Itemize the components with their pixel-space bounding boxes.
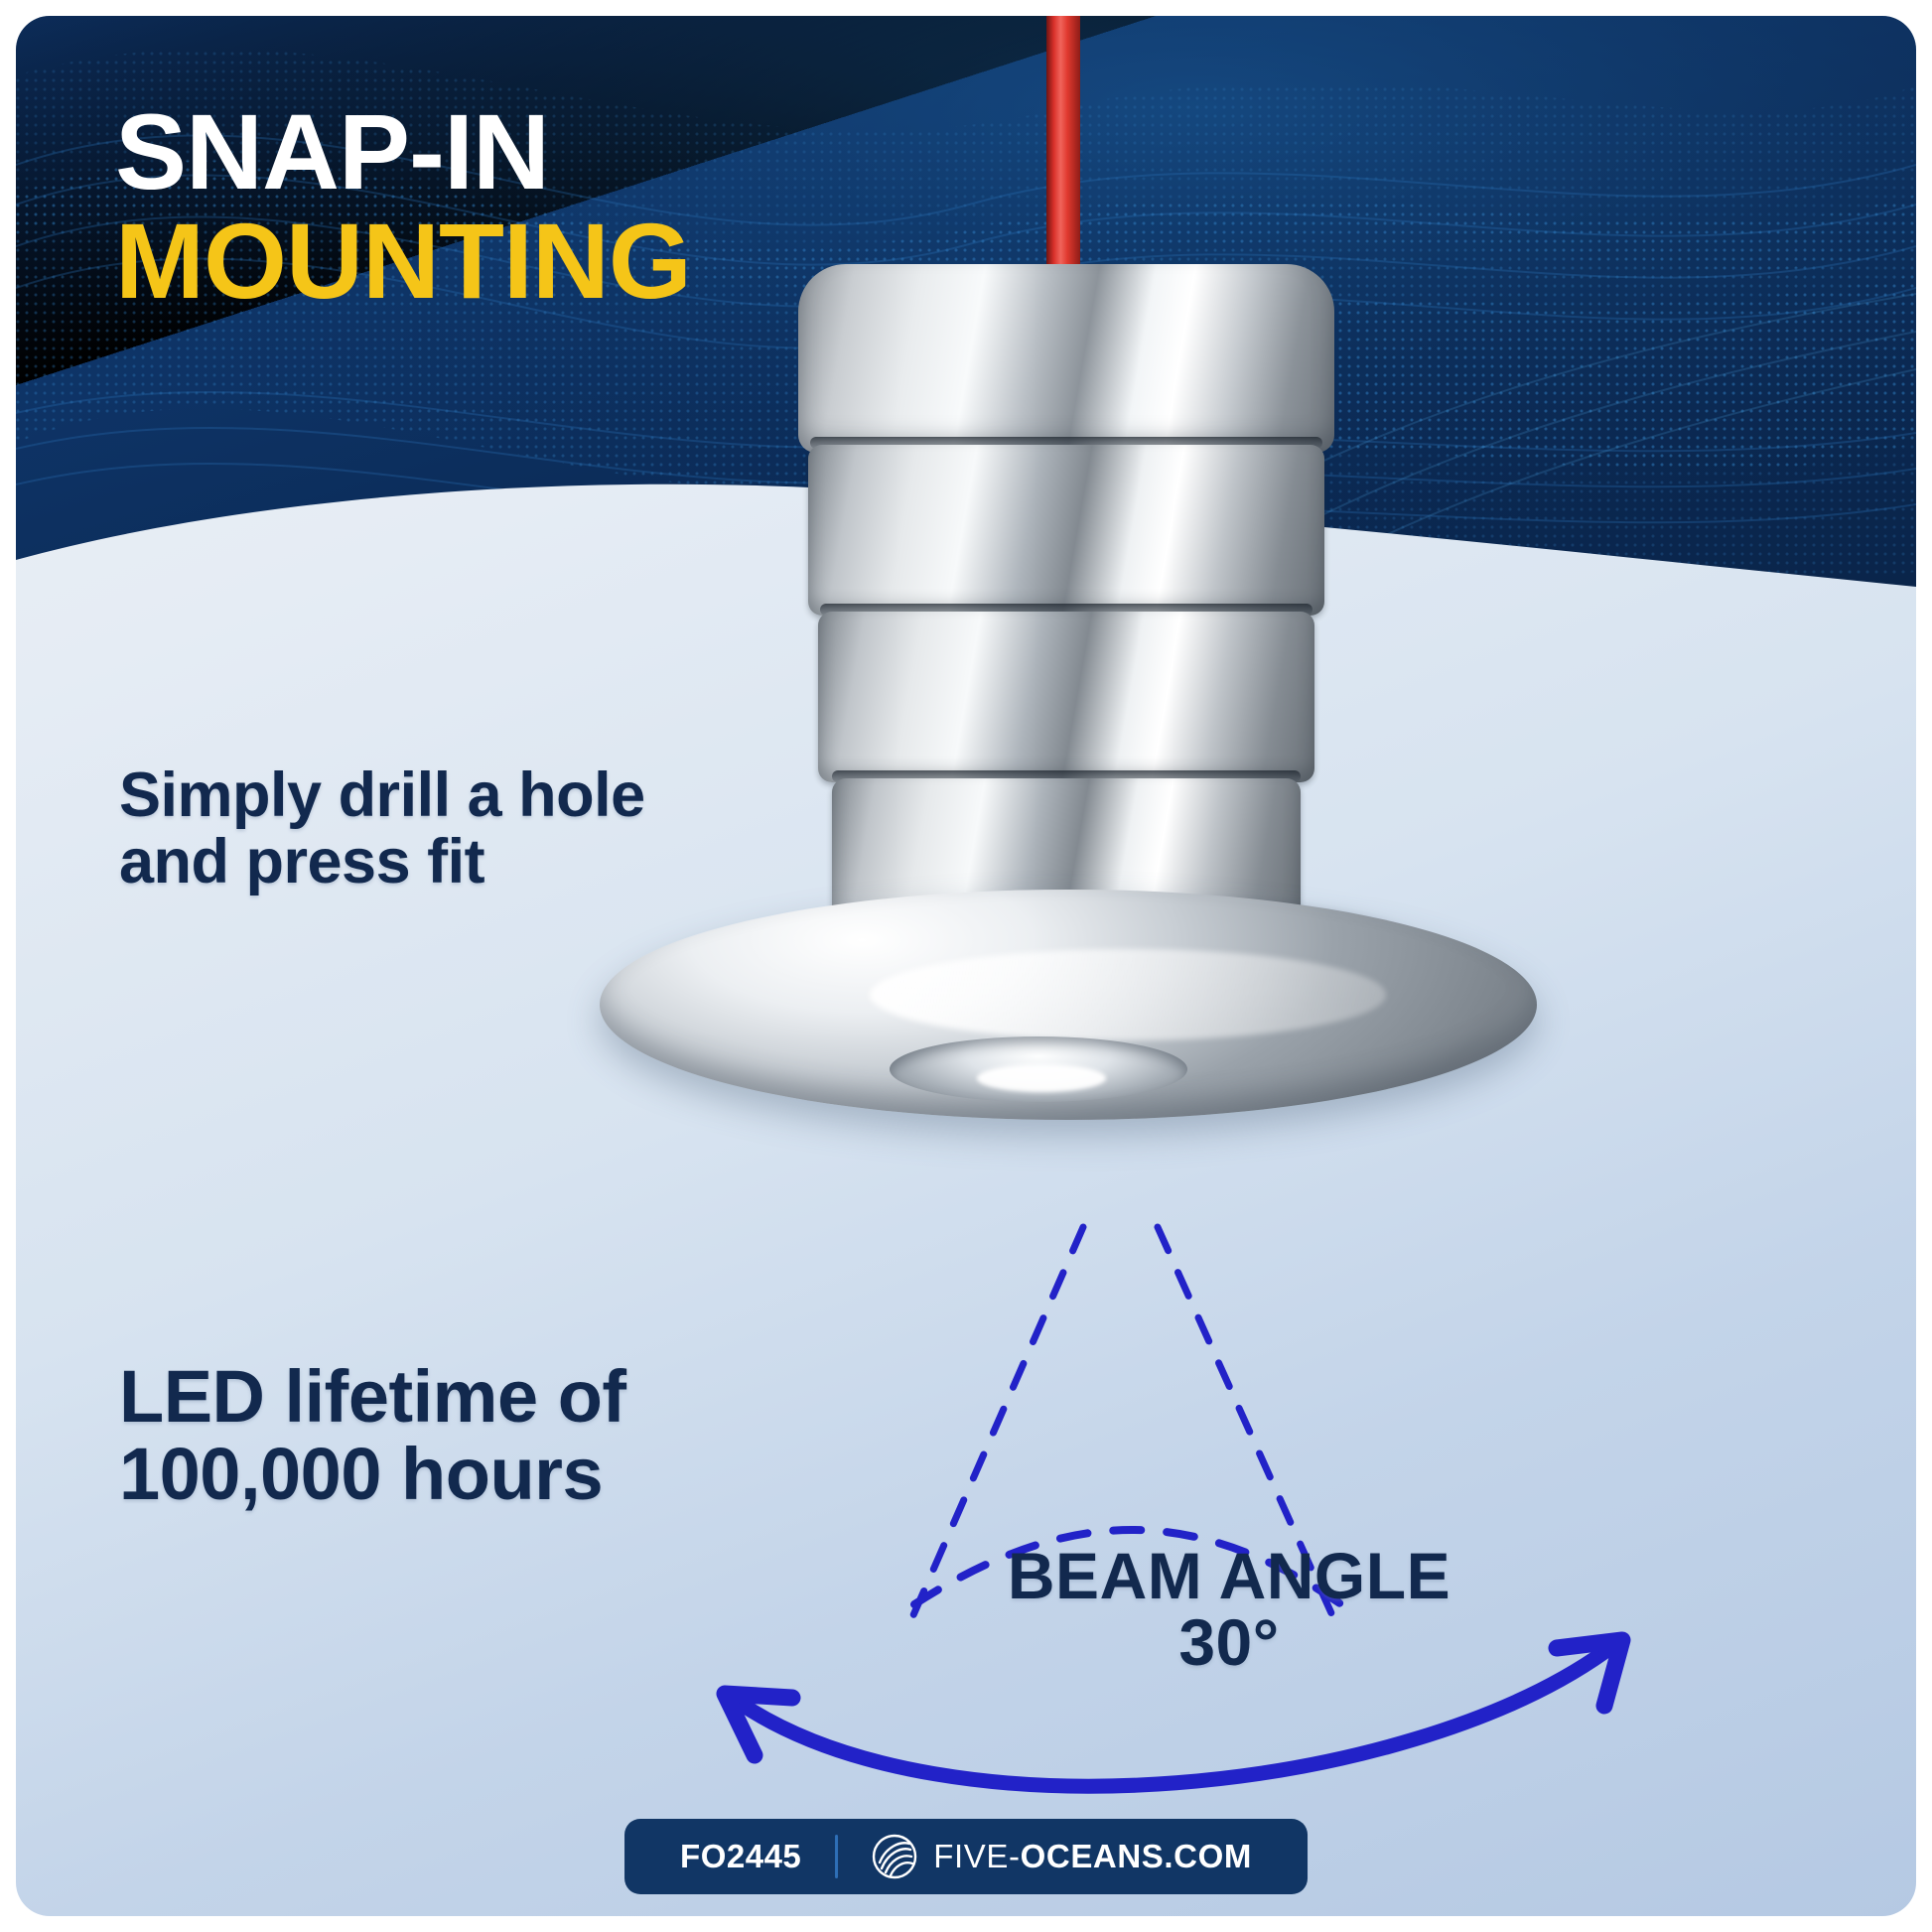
wave-shell-logo-icon bbox=[872, 1834, 917, 1879]
beam-angle-value: 30° bbox=[971, 1609, 1487, 1676]
feature-2-line-2: 100,000 hours bbox=[119, 1436, 626, 1513]
headline-line-2: MOUNTING bbox=[115, 207, 691, 316]
headline-line-1: SNAP-IN bbox=[115, 97, 691, 207]
brand-lockup: FIVE-OCEANS.COM bbox=[872, 1834, 1252, 1879]
page-title: SNAP-IN MOUNTING bbox=[115, 97, 691, 316]
beam-angle-title: BEAM ANGLE bbox=[971, 1543, 1487, 1609]
feature-1-line-1: Simply drill a hole bbox=[119, 762, 645, 829]
brand-prefix: FIVE- bbox=[933, 1838, 1020, 1874]
footer-bar: FO2445 FIVE-OCEANS.COM bbox=[624, 1819, 1308, 1894]
feature-text-lifetime: LED lifetime of 100,000 hours bbox=[119, 1358, 626, 1514]
feature-1-line-2: and press fit bbox=[119, 829, 645, 896]
product-sku: FO2445 bbox=[680, 1838, 801, 1875]
footer-divider bbox=[835, 1835, 838, 1878]
brand-url: FIVE-OCEANS.COM bbox=[933, 1838, 1252, 1875]
feature-2-line-1: LED lifetime of bbox=[119, 1358, 626, 1436]
feature-text-snap-in: Simply drill a hole and press fit bbox=[119, 762, 645, 896]
brand-suffix: OCEANS.COM bbox=[1021, 1838, 1252, 1874]
beam-angle-label: BEAM ANGLE 30° bbox=[971, 1543, 1487, 1677]
infographic-card: SNAP-IN MOUNTING Simply drill a hole and… bbox=[16, 16, 1916, 1916]
